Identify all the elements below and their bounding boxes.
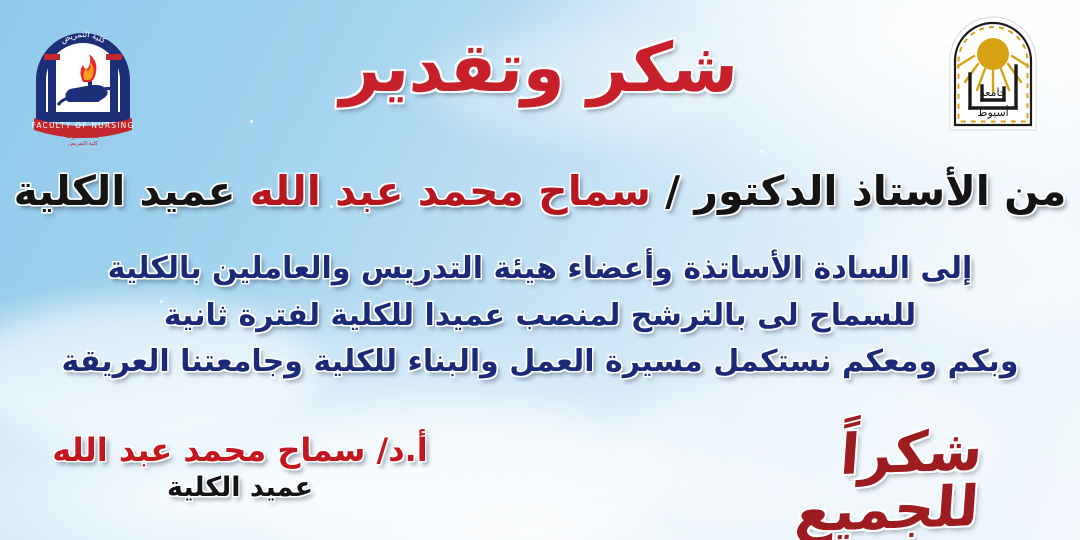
calligraphy-everyone-text: شكراً للجميع <box>636 423 985 540</box>
message-line-3: وبكم ومعكم نستكمل مسيرة العمل والبناء لل… <box>0 339 1080 386</box>
message-line-2: للسماح لى بالترشح لمنصب عميدا للكلية لفت… <box>0 293 1080 340</box>
message-line-1: إلى السادة الأساتذة وأعضاء هيئة التدريس … <box>0 246 1080 293</box>
calligraphy-thanks-and-appreciation: شكر وتقدير <box>0 14 1080 124</box>
appreciation-poster: كلية التمريض FACULTY OF NURSING <box>0 0 1080 540</box>
signature-block: أ.د/ سماح محمد عبد الله عميد الكلية <box>40 430 440 505</box>
calligraphy-thanks-to-everyone: شكراً للجميع <box>640 430 980 540</box>
page-title: من الأستاذ الدكتور / سماح محمد عبد الله … <box>0 150 1080 234</box>
headline-prefix: من الأستاذ الدكتور / <box>651 167 1066 215</box>
headline-suffix: عميد الكلية <box>14 167 250 215</box>
signature-name: أ.د/ سماح محمد عبد الله <box>40 430 440 470</box>
signature-title: عميد الكلية <box>40 470 440 505</box>
svg-text:جامعة أسيوط: جامعة أسيوط <box>66 132 100 140</box>
headline-dean-name: سماح محمد عبد الله <box>250 167 651 215</box>
calligraphy-thanks-text: شكر وتقدير <box>339 35 740 103</box>
svg-text:كلية التمريض: كلية التمريض <box>68 140 98 146</box>
message-body: إلى السادة الأساتذة وأعضاء هيئة التدريس … <box>0 246 1080 386</box>
